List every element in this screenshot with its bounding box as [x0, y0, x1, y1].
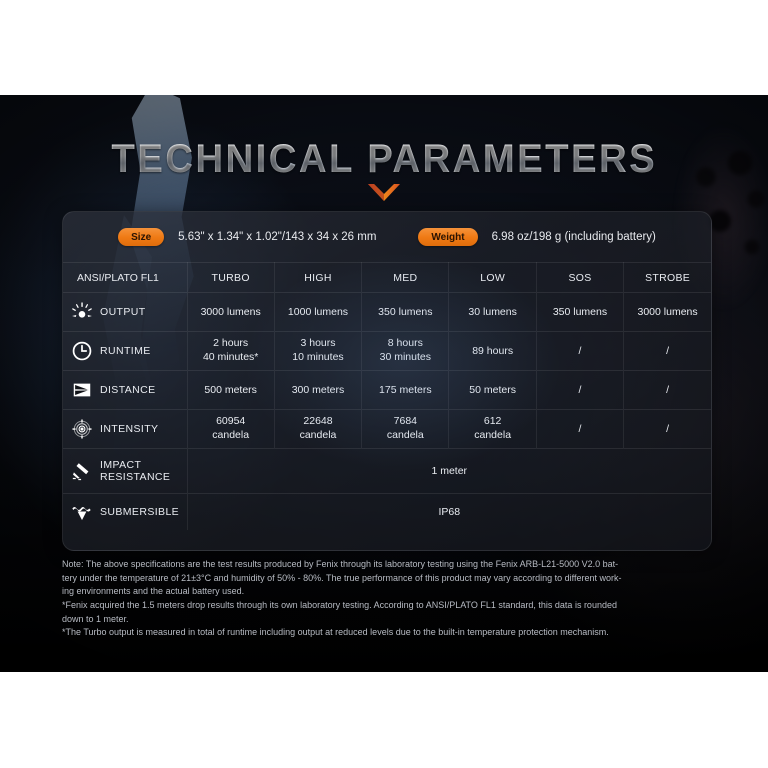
- column-header-sos: SOS: [536, 263, 623, 293]
- size-weight-strip: Size 5.63" x 1.34" x 1.02"/143 x 34 x 26…: [63, 212, 711, 262]
- column-header-turbo: TURBO: [187, 263, 274, 293]
- footnote-line-6: *The Turbo output is measured in total o…: [62, 626, 722, 640]
- row-label-intensity: INTENSITY: [63, 410, 187, 449]
- page-title: TECHNICAL PARAMETERS: [111, 137, 657, 182]
- table-row-output: OUTPUT 3000 lumens 1000 lumens 350 lumen…: [63, 293, 711, 332]
- row-label-output-text: OUTPUT: [100, 306, 146, 318]
- page-title-wrapper: TECHNICAL PARAMETERS: [0, 137, 768, 182]
- chevron-down-icon: [367, 183, 401, 203]
- row-label-impact-resistance: IMPACTRESISTANCE: [63, 449, 187, 494]
- row-label-submersible-text: SUBMERSIBLE: [100, 506, 179, 518]
- footnote-line-2: tery under the temperature of 21±3°C and…: [62, 572, 722, 586]
- footnotes: Note: The above specifications are the t…: [62, 558, 722, 640]
- footnote-line-4: *Fenix acquired the 1.5 meters drop resu…: [62, 599, 722, 613]
- cell-intensity-low: 612candela: [449, 410, 536, 449]
- size-value: 5.63" x 1.34" x 1.02"/143 x 34 x 26 mm: [178, 231, 376, 243]
- cell-runtime-strobe: /: [624, 332, 711, 371]
- beam-distance-icon: [71, 379, 93, 401]
- cell-impact-resistance-value: 1 meter: [187, 449, 711, 494]
- cell-runtime-high: 3 hours10 minutes: [274, 332, 361, 371]
- cell-distance-strobe: /: [624, 371, 711, 410]
- table-row-impact-resistance: IMPACTRESISTANCE 1 meter: [63, 449, 711, 494]
- cell-intensity-strobe: /: [624, 410, 711, 449]
- weight-badge: Weight: [418, 228, 477, 246]
- water-wave-icon: [71, 501, 93, 523]
- table-header-row: ANSI/PLATO FL1 TURBO HIGH MED LOW SOS ST…: [63, 263, 711, 293]
- column-header-high: HIGH: [274, 263, 361, 293]
- impact-drop-icon: [71, 460, 93, 482]
- row-label-distance-text: DISTANCE: [100, 384, 156, 396]
- cell-intensity-high: 22648candela: [274, 410, 361, 449]
- cell-distance-low: 50 meters: [449, 371, 536, 410]
- cell-intensity-turbo: 60954candela: [187, 410, 274, 449]
- table-row-runtime: RUNTIME 2 hours40 minutes* 3 hours10 min…: [63, 332, 711, 371]
- cell-output-strobe: 3000 lumens: [624, 293, 711, 332]
- crosshair-target-icon: [71, 418, 93, 440]
- cell-runtime-med: 8 hours30 minutes: [362, 332, 449, 371]
- cell-intensity-med: 7684candela: [362, 410, 449, 449]
- table-row-submersible: SUBMERSIBLE IP68: [63, 494, 711, 530]
- cell-output-turbo: 3000 lumens: [187, 293, 274, 332]
- screenshot-root: TECHNICAL PARAMETERS Size 5.63" x 1.34" …: [0, 0, 768, 768]
- cell-distance-med: 175 meters: [362, 371, 449, 410]
- row-label-runtime-text: RUNTIME: [100, 345, 151, 357]
- footnote-line-1: Note: The above specifications are the t…: [62, 558, 722, 572]
- row-label-intensity-text: INTENSITY: [100, 423, 158, 435]
- column-header-med: MED: [362, 263, 449, 293]
- clock-icon: [71, 340, 93, 362]
- cell-intensity-sos: /: [536, 410, 623, 449]
- column-header-strobe: STROBE: [624, 263, 711, 293]
- size-badge: Size: [118, 228, 164, 246]
- cell-runtime-low: 89 hours: [449, 332, 536, 371]
- footnote-line-3: ing environments and the actual battery …: [62, 585, 722, 599]
- row-label-output: OUTPUT: [63, 293, 187, 332]
- cell-distance-turbo: 500 meters: [187, 371, 274, 410]
- row-label-submersible: SUBMERSIBLE: [63, 494, 187, 530]
- specifications-table: ANSI/PLATO FL1 TURBO HIGH MED LOW SOS ST…: [63, 262, 711, 530]
- table-row-intensity: INTENSITY 60954candela 22648candela 7684…: [63, 410, 711, 449]
- cell-output-sos: 350 lumens: [536, 293, 623, 332]
- table-row-distance: DISTANCE 500 meters 300 meters 175 meter…: [63, 371, 711, 410]
- cell-output-high: 1000 lumens: [274, 293, 361, 332]
- cell-output-med: 350 lumens: [362, 293, 449, 332]
- cell-distance-sos: /: [536, 371, 623, 410]
- column-header-standard: ANSI/PLATO FL1: [63, 263, 187, 293]
- cell-submersible-value: IP68: [187, 494, 711, 530]
- weight-value: 6.98 oz/198 g (including battery): [492, 231, 656, 243]
- cell-output-low: 30 lumens: [449, 293, 536, 332]
- row-label-runtime: RUNTIME: [63, 332, 187, 371]
- cell-runtime-turbo: 2 hours40 minutes*: [187, 332, 274, 371]
- footnote-line-5: down to 1 meter.: [62, 613, 722, 627]
- cell-distance-high: 300 meters: [274, 371, 361, 410]
- column-header-low: LOW: [449, 263, 536, 293]
- row-label-impact-resistance-text: IMPACTRESISTANCE: [100, 459, 170, 483]
- sun-rays-icon: [71, 301, 93, 323]
- chevron-down-icon-wrapper: [0, 183, 768, 208]
- specifications-panel: Size 5.63" x 1.34" x 1.02"/143 x 34 x 26…: [62, 211, 712, 551]
- row-label-distance: DISTANCE: [63, 371, 187, 410]
- cell-runtime-sos: /: [536, 332, 623, 371]
